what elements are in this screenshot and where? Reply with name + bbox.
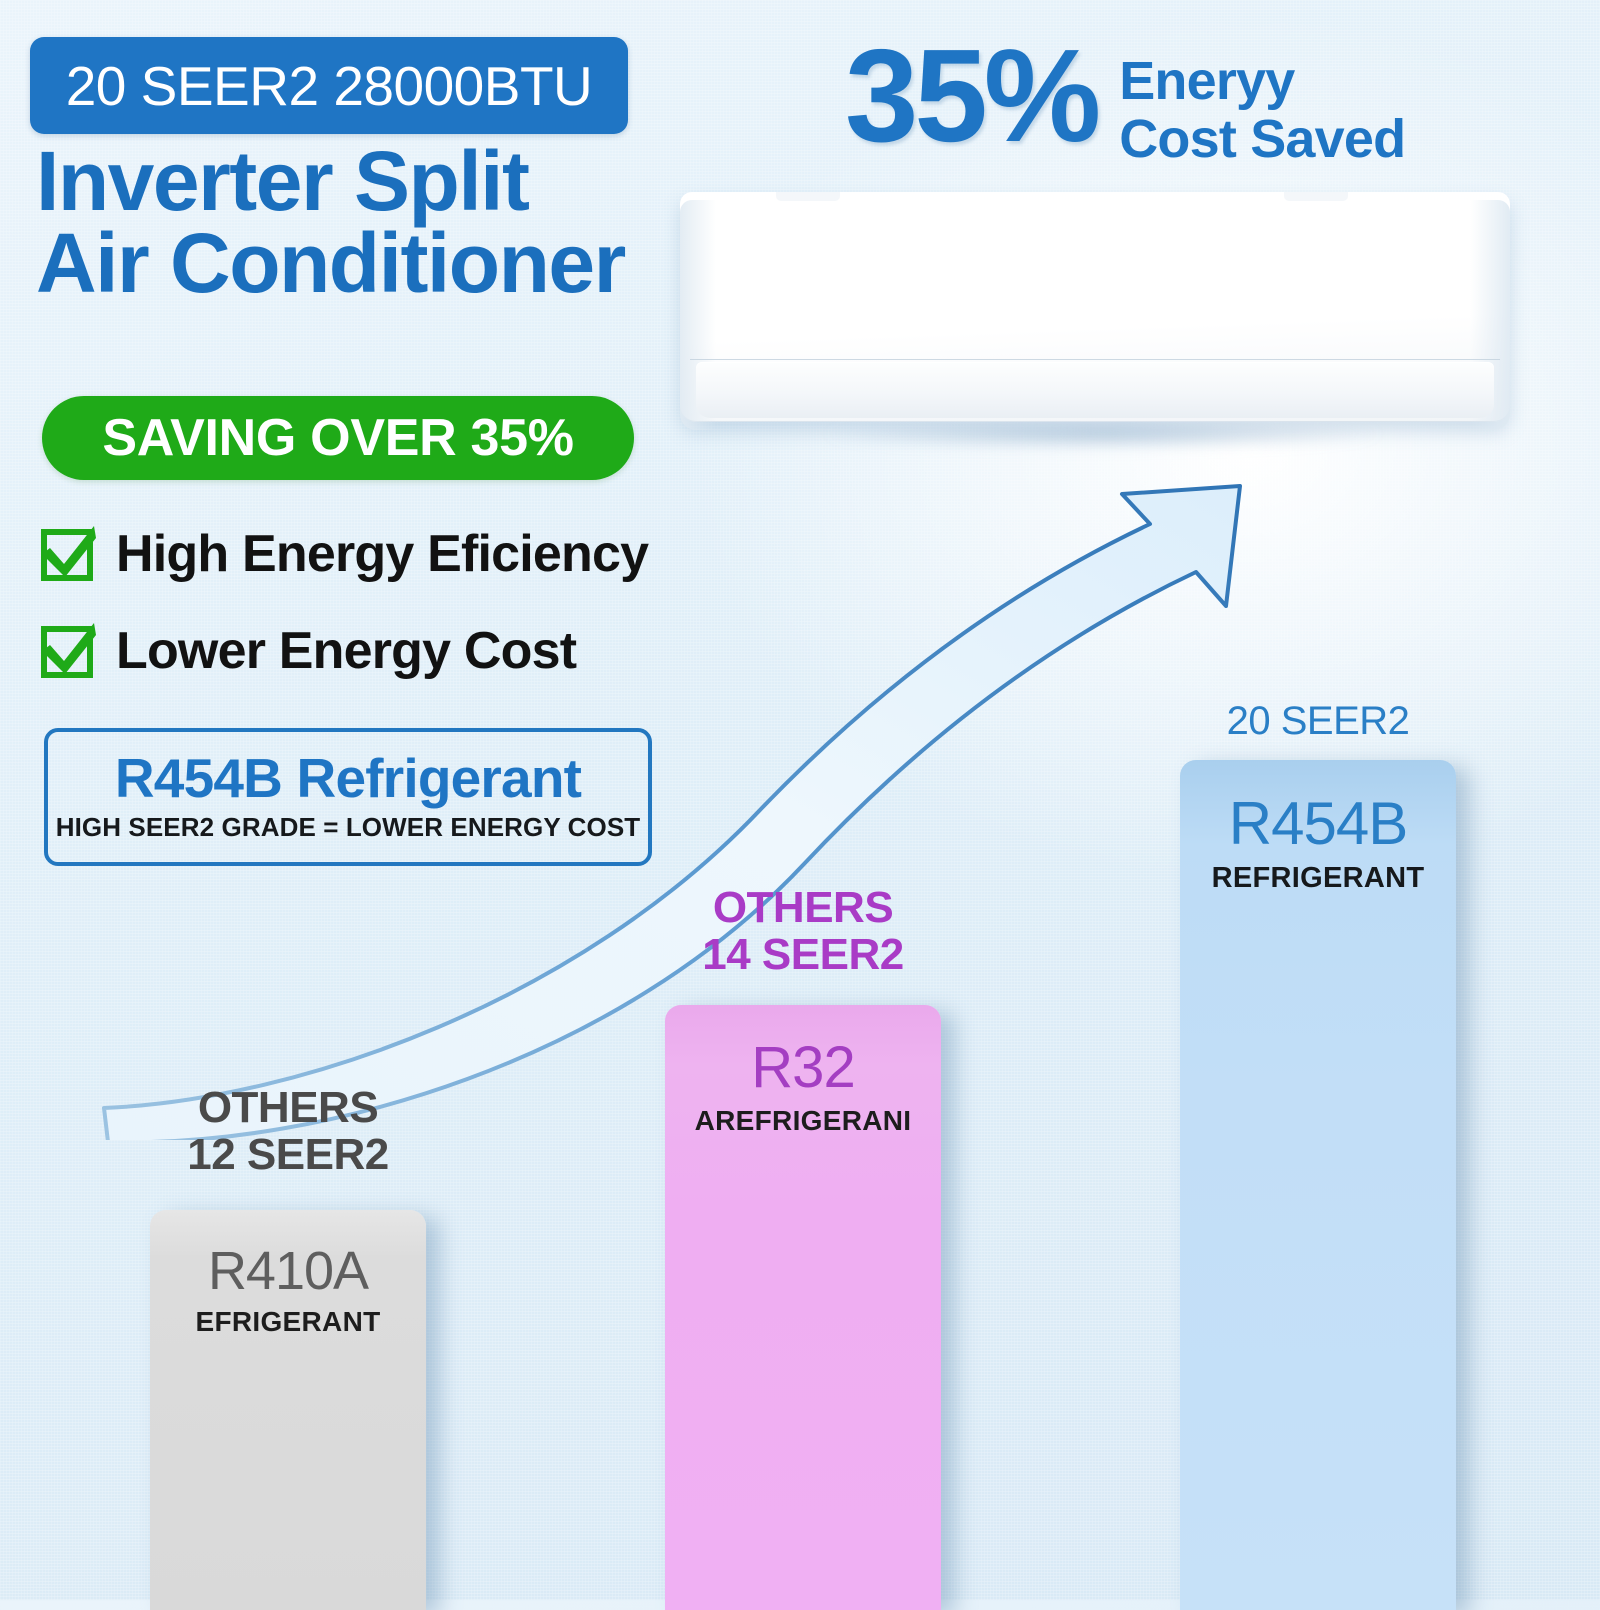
saving-badge: SAVING OVER 35% — [42, 396, 634, 480]
saving-caption-line2: Cost Saved — [1119, 110, 1405, 168]
ac-unit-vent-panel — [696, 362, 1494, 418]
saving-caption-line1: Eneryy — [1119, 52, 1405, 110]
bar-caption-line1: 20 SEER2 — [1180, 700, 1456, 742]
bar-r454b: R454B REFRIGERANT — [1180, 760, 1456, 1610]
bar-refrigerant-sublabel: EFRIGERANT — [150, 1308, 426, 1336]
bar-refrigerant-sublabel: REFRIGERANT — [1180, 864, 1456, 893]
energy-saving-callout: 35% Eneryy Cost Saved — [845, 30, 1405, 169]
bar-caption-r454b: 20 SEER2 — [1180, 700, 1456, 742]
saving-percent-caption: Eneryy Cost Saved — [1119, 52, 1405, 169]
bar-refrigerant-sublabel: AREFRIGERANI — [665, 1107, 941, 1135]
ac-unit-top-tab — [776, 192, 840, 201]
page-title-line1: Inverter Split — [36, 134, 528, 228]
bar-caption-line2: 12 SEER2 — [150, 1132, 426, 1179]
page-title-line2: Air Conditioner — [36, 222, 656, 304]
ac-unit-body — [680, 192, 1510, 422]
ac-unit-shadow — [708, 420, 1498, 460]
bar-caption-line1: OTHERS — [665, 885, 941, 932]
bar-caption-line2: 14 SEER2 — [665, 932, 941, 979]
bar-caption-r410a: OTHERS 12 SEER2 — [150, 1085, 426, 1178]
bar-caption-line1: OTHERS — [150, 1085, 426, 1132]
bar-refrigerant-code: R454B — [1180, 794, 1456, 854]
bar-refrigerant-code: R410A — [150, 1244, 426, 1298]
ac-unit-seam — [690, 359, 1500, 360]
seer-btu-badge-label: 20 SEER2 28000BTU — [66, 54, 593, 118]
bar-r410a-labels: R410A EFRIGERANT — [150, 1244, 426, 1336]
saving-badge-label: SAVING OVER 35% — [102, 408, 573, 468]
bar-r454b-labels: R454B REFRIGERANT — [1180, 794, 1456, 893]
air-conditioner-unit-icon — [680, 184, 1510, 454]
saving-percent-value: 35% — [845, 30, 1097, 162]
bar-r32-labels: R32 AREFRIGERANI — [665, 1039, 941, 1135]
page-title: Inverter Split Air Conditioner — [36, 140, 656, 305]
bar-refrigerant-code: R32 — [665, 1039, 941, 1097]
bar-r32: R32 AREFRIGERANI — [665, 1005, 941, 1610]
bar-caption-r32: OTHERS 14 SEER2 — [665, 885, 941, 978]
ac-unit-top-tab — [1284, 192, 1348, 201]
seer-btu-badge: 20 SEER2 28000BTU — [30, 37, 628, 134]
bar-r410a: R410A EFRIGERANT — [150, 1210, 426, 1610]
